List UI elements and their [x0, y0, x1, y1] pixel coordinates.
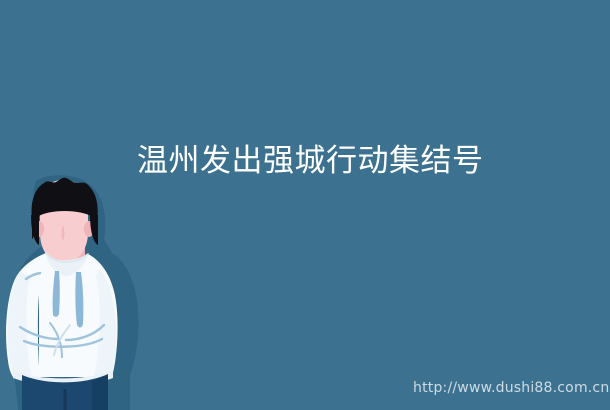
watermark-url: http://www.dushi88.com.cn	[413, 379, 609, 397]
pants-shade	[92, 375, 108, 410]
image-canvas: 温州发出强城行动集结号 http://www.dushi88.com.cn	[0, 0, 610, 410]
hair-sideburn-left	[31, 215, 39, 245]
person-illustration-svg	[0, 175, 150, 410]
headline-text: 温州发出强城行动集结号	[137, 133, 497, 189]
person-illustration	[0, 175, 150, 410]
